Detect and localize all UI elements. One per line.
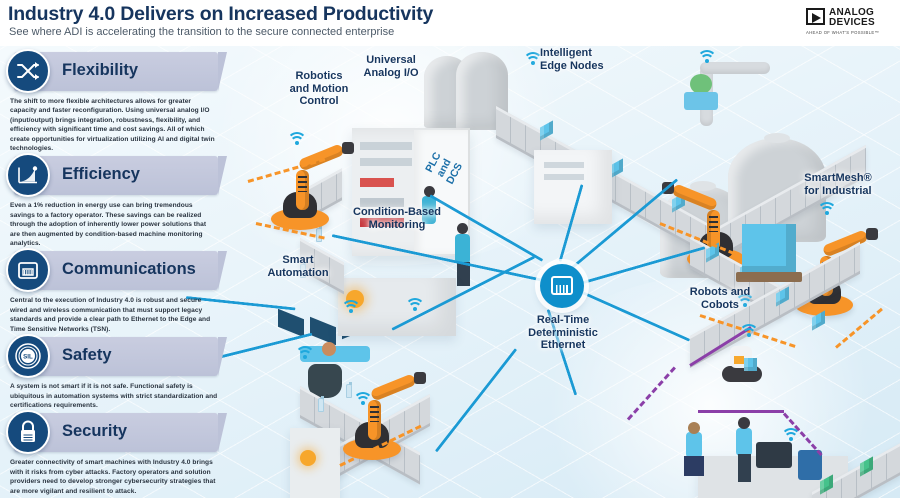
panel-communications[interactable]: Communications Central to the execution … <box>0 251 232 334</box>
logo-line-2: DEVICES <box>829 18 875 28</box>
wifi-icon <box>406 298 424 312</box>
wifi-icon <box>296 346 314 360</box>
label-intelligent-edge-nodes: Intelligent Edge Nodes <box>540 47 650 72</box>
bottle <box>318 398 324 412</box>
real-time-deterministic-ethernet-hub[interactable] <box>540 264 584 308</box>
sil-seal-icon: SIL <box>6 334 50 378</box>
rack-module <box>360 142 412 150</box>
page-header: Industry 4.0 Delivers on Increased Produ… <box>0 0 900 46</box>
label-smart-automation: Smart Automation <box>252 254 344 279</box>
panel-title: Efficiency <box>62 165 140 184</box>
panel-efficiency[interactable]: Efficiency Even a 1% reduction in energy… <box>0 156 232 248</box>
label-robots-and-cobots: Robots and Cobots <box>672 286 768 311</box>
machine-housing <box>290 428 340 498</box>
panel-title: Flexibility <box>62 61 138 80</box>
label-universal-analog-io: Universal Analog I/O <box>336 54 446 79</box>
wifi-icon <box>354 392 372 406</box>
server-slot <box>544 162 584 168</box>
indicator-lamp <box>300 450 316 466</box>
wifi-icon <box>288 132 306 146</box>
worker-legs <box>738 454 751 482</box>
agv-path <box>698 410 784 413</box>
ethernet-port-icon <box>551 276 573 295</box>
panel-body-text: Central to the execution of Industry 4.0… <box>10 296 218 334</box>
edge-node-body <box>684 92 718 110</box>
palletized-goods <box>742 224 796 274</box>
shuffle-arrows-icon <box>6 49 50 93</box>
panel-body-text: The shift to more flexible architectures… <box>10 97 218 153</box>
panel-header: SIL Safety <box>14 337 218 376</box>
feature-panel-list: Flexibility The shift to more flexible a… <box>0 52 232 499</box>
cobot-indicator <box>734 356 744 364</box>
panel-header: Security <box>14 413 218 452</box>
bottle <box>346 384 352 398</box>
panel-flexibility[interactable]: Flexibility The shift to more flexible a… <box>0 52 232 153</box>
svg-text:SIL: SIL <box>23 354 33 361</box>
worker-head <box>688 422 700 434</box>
panel-header: Flexibility <box>14 52 218 91</box>
rack-module <box>360 158 412 166</box>
wifi-icon <box>740 324 758 338</box>
padlock-icon <box>6 410 50 454</box>
panel-title: Communications <box>62 260 196 279</box>
analog-devices-logo: ANALOG DEVICES AHEAD OF WHAT'S POSSIBLE™ <box>806 7 892 37</box>
wifi-icon <box>818 202 836 216</box>
ethernet-port-icon <box>6 248 50 292</box>
panel-header: Communications <box>14 251 218 290</box>
label-smartmesh-for-industrial: SmartMesh® for Industrial <box>786 172 890 197</box>
edge-node-sensor <box>690 74 712 94</box>
worker-head <box>738 417 750 429</box>
rising-curve-chart-icon <box>6 153 50 197</box>
infographic-page: Industry 4.0 Delivers on Increased Produ… <box>0 0 900 503</box>
carried-box <box>744 358 757 371</box>
panel-body-text: Greater connectivity of smart machines w… <box>10 458 218 496</box>
label-condition-based-monitoring: Condition-Based Monitoring <box>332 206 462 231</box>
worker-figure <box>686 432 702 458</box>
rack-module <box>360 178 394 187</box>
hub-label: Real-Time Deterministic Ethernet <box>497 314 629 352</box>
worker-skirt <box>684 456 704 476</box>
page-subtitle: See where ADI is accelerating the transi… <box>9 26 394 38</box>
pallet <box>736 272 802 282</box>
worker-figure <box>736 428 752 456</box>
panel-body-text: A system is not smart if it is not safe.… <box>10 382 218 410</box>
panel-body-text: Even a 1% reduction in energy use can br… <box>10 201 218 248</box>
operator-head <box>322 342 336 356</box>
panel-header: Efficiency <box>14 156 218 195</box>
panel-title: Safety <box>62 346 112 365</box>
wifi-icon <box>342 300 360 314</box>
panel-security[interactable]: Security Greater connectivity of smart m… <box>0 413 232 496</box>
adi-triangle-logo-icon <box>806 8 825 25</box>
panel-title: Security <box>62 422 127 441</box>
wifi-icon <box>782 428 800 442</box>
page-title: Industry 4.0 Delivers on Increased Produ… <box>8 3 433 26</box>
wifi-icon <box>698 50 716 64</box>
panel-safety[interactable]: SIL Safety A system is not smart if it i… <box>0 337 232 410</box>
logo-tagline: AHEAD OF WHAT'S POSSIBLE™ <box>806 30 879 35</box>
server-slot <box>544 174 584 180</box>
worker-figure <box>455 234 470 264</box>
